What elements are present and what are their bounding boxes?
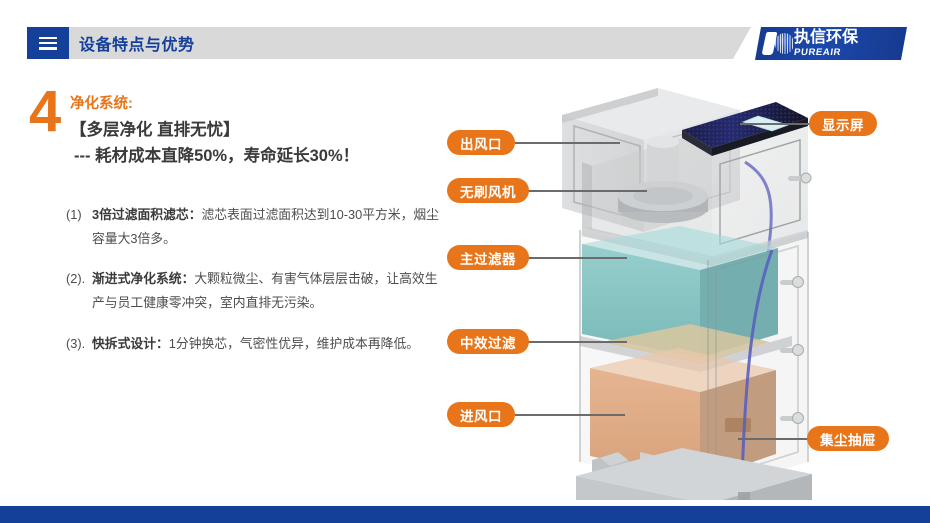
hamburger-icon: [39, 37, 57, 50]
leader-line-main-filter: [527, 257, 627, 259]
logo-mark-icon: [755, 27, 793, 60]
bullet-text: 1分钟换芯，气密性优异，维护成本再降低。: [169, 336, 419, 351]
page-title: 设备特点与优势: [79, 27, 195, 59]
bullet-strong: 渐进式净化系统：: [92, 271, 194, 286]
callout-brushless-fan[interactable]: 无刷风机: [447, 178, 529, 203]
logo-name-en: PUREAIR: [793, 48, 858, 58]
footer-bar: [0, 506, 930, 523]
leader-line-air-inlet: [515, 414, 625, 416]
headline-main: 【多层净化 直排无忧】: [70, 118, 450, 143]
list-item: (3). 快拆式设计：1分钟换芯，气密性优异，维护成本再降低。: [66, 332, 441, 356]
headline-subtitle: 净化系统:: [70, 95, 450, 115]
leader-line-medium-filter: [527, 341, 627, 343]
leader-line-display-screen: [740, 123, 810, 125]
callout-air-outlet[interactable]: 出风口: [447, 130, 515, 155]
headline-block: 净化系统: 【多层净化 直排无忧】 --- 耗材成本直降50%，寿命延长30%！: [70, 95, 450, 169]
list-item: (2). 渐进式净化系统：大颗粒微尘、有害气体层层击破，让高效生产与员工健康零冲…: [66, 267, 441, 314]
bullet-index: (1): [66, 203, 92, 250]
callout-air-inlet[interactable]: 进风口: [447, 402, 515, 427]
callout-display-screen[interactable]: 显示屏: [809, 111, 877, 136]
section-number: 4: [29, 86, 61, 138]
brand-logo: 执信环保 PUREAIR: [755, 27, 907, 60]
bullet-list: (1) 3倍过滤面积滤芯：滤芯表面过滤面积达到10-30平方米，烟尘容量大3倍多…: [66, 203, 441, 372]
leader-line-brushless-fan: [527, 190, 647, 192]
slide-root: 设备特点与优势 执信环保 PUREAIR 4 净化系统: 【多层净化 直排无忧】…: [0, 0, 930, 523]
callout-medium-filter[interactable]: 中效过滤: [447, 329, 529, 354]
callout-dust-drawer[interactable]: 集尘抽屉: [807, 426, 889, 451]
bullet-strong: 3倍过滤面积滤芯：: [92, 207, 202, 222]
headline-secondary: --- 耗材成本直降50%，寿命延长30%！: [70, 144, 450, 169]
leader-line-dust-drawer: [738, 438, 808, 440]
leader-line-air-outlet: [515, 142, 620, 144]
menu-button[interactable]: [27, 27, 69, 59]
bullet-index: (3).: [66, 332, 92, 356]
bullet-strong: 快拆式设计：: [92, 336, 169, 351]
list-item: (1) 3倍过滤面积滤芯：滤芯表面过滤面积达到10-30平方米，烟尘容量大3倍多…: [66, 203, 441, 250]
callout-main-filter[interactable]: 主过滤器: [447, 245, 529, 270]
bullet-index: (2).: [66, 267, 92, 314]
logo-name-cn: 执信环保: [794, 30, 858, 46]
